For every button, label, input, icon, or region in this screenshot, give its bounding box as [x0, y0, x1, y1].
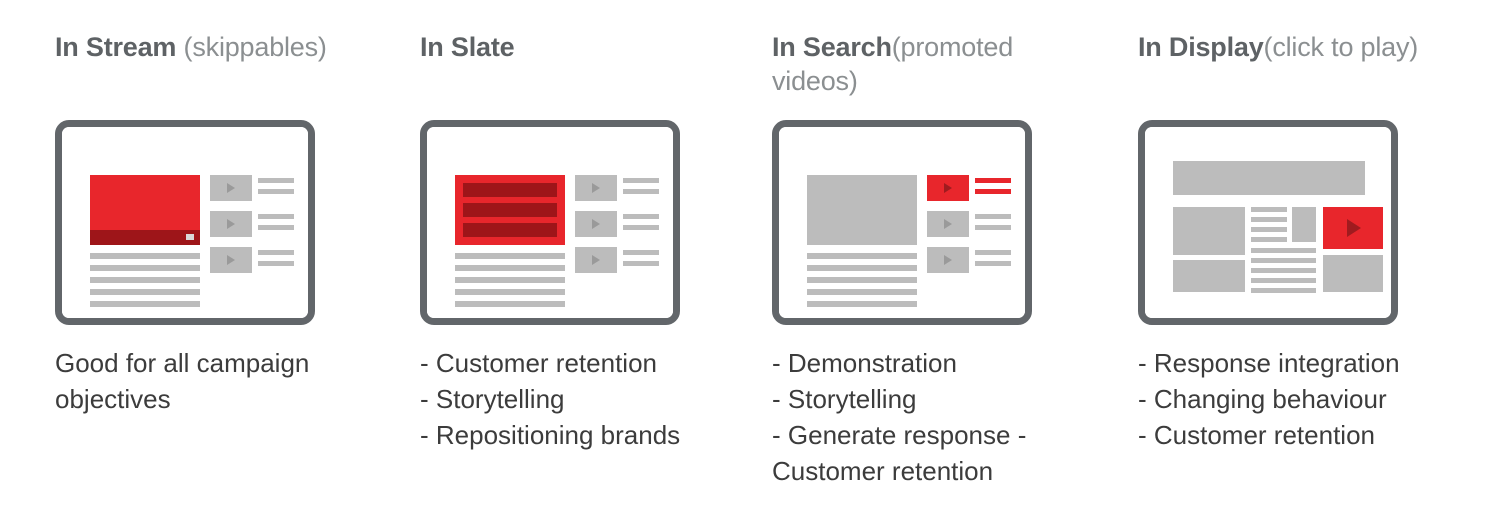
- play-icon: [227, 219, 235, 229]
- in-search-wireframe-icon: [772, 120, 1032, 325]
- slate-option-bar: [463, 223, 557, 237]
- content-block: [1173, 260, 1245, 292]
- in-stream-screen: [62, 127, 308, 318]
- search-result-thumbnail: [927, 247, 969, 273]
- format-heading-in-stream: In Stream (skippables): [55, 30, 355, 64]
- suggested-video-title-line: [258, 178, 294, 183]
- suggested-video-thumbnail: [575, 211, 617, 237]
- play-icon: [227, 255, 235, 265]
- suggested-video-title-line: [623, 214, 659, 219]
- search-result-title-line: [975, 261, 1011, 266]
- promoted-video-title-line: [975, 189, 1011, 194]
- in-slate-screen: [427, 127, 673, 318]
- content-block: [1323, 255, 1383, 292]
- play-icon: [944, 183, 952, 193]
- format-heading-bold: In Slate: [420, 32, 514, 62]
- play-icon: [592, 255, 600, 265]
- format-heading-bold: In Search: [772, 32, 892, 62]
- body-text-line: [90, 265, 200, 271]
- caption-line: - Storytelling: [772, 381, 1112, 417]
- main-content-block: [807, 175, 917, 245]
- format-heading-bold: In Display: [1138, 32, 1264, 62]
- video-progress-handle: [186, 234, 194, 240]
- caption-line: - Demonstration: [772, 345, 1112, 381]
- caption-line: objectives: [55, 381, 385, 417]
- format-heading-bold: In Stream: [55, 32, 176, 62]
- caption-line: - Customer retention: [1138, 417, 1478, 453]
- suggested-video-thumbnail: [575, 175, 617, 201]
- slate-option-bar: [463, 203, 557, 217]
- slate-option-bar: [463, 183, 557, 197]
- body-text-line: [90, 277, 200, 283]
- page-banner-block: [1173, 161, 1365, 195]
- suggested-video-title-line: [623, 189, 659, 194]
- body-text-line: [1251, 268, 1316, 273]
- suggested-video-title-line: [623, 250, 659, 255]
- format-column-in-stream: In Stream (skippables): [55, 0, 405, 523]
- body-text-line: [1251, 217, 1287, 222]
- body-text-line: [807, 253, 917, 259]
- body-text-line: [807, 289, 917, 295]
- body-text-line: [1251, 288, 1316, 293]
- suggested-video-thumbnail: [575, 247, 617, 273]
- format-heading-in-slate: In Slate: [420, 30, 720, 64]
- suggested-video-title-line: [258, 189, 294, 194]
- search-result-title-line: [975, 225, 1011, 230]
- suggested-video-title-line: [258, 225, 294, 230]
- caption-line: Customer retention: [772, 453, 1112, 489]
- body-text-line: [455, 265, 565, 271]
- video-progress-bar: [90, 230, 200, 245]
- suggested-video-title-line: [623, 178, 659, 183]
- body-text-line: [1251, 258, 1316, 263]
- play-icon: [592, 219, 600, 229]
- body-text-line: [90, 289, 200, 295]
- suggested-video-thumbnail: [210, 211, 252, 237]
- search-result-title-line: [975, 214, 1011, 219]
- format-column-in-slate: In Slate: [420, 0, 765, 523]
- format-column-in-search: In Search(promoted videos): [772, 0, 1132, 523]
- format-heading-light: (skippables): [176, 32, 326, 62]
- caption-line: - Repositioning brands: [420, 417, 750, 453]
- body-text-line: [90, 253, 200, 259]
- in-display-wireframe-icon: [1138, 120, 1398, 325]
- in-search-screen: [779, 127, 1025, 318]
- format-heading-in-display: In Display(click to play): [1138, 30, 1428, 64]
- format-caption-in-slate: - Customer retention - Storytelling - Re…: [420, 345, 750, 453]
- body-text-line: [1251, 248, 1316, 253]
- body-text-line: [90, 301, 200, 307]
- promoted-video-title-line: [975, 178, 1011, 183]
- body-text-line: [807, 265, 917, 271]
- suggested-video-title-line: [258, 250, 294, 255]
- body-text-line: [455, 289, 565, 295]
- in-slate-wireframe-icon: [420, 120, 680, 325]
- body-text-line: [807, 301, 917, 307]
- search-result-title-line: [975, 250, 1011, 255]
- caption-line: - Customer retention: [420, 345, 750, 381]
- body-text-line: [1251, 227, 1287, 232]
- body-text-line: [1251, 278, 1316, 283]
- format-column-in-display: In Display(click to play): [1138, 0, 1498, 523]
- body-text-line: [1251, 207, 1287, 212]
- caption-line: - Generate response -: [772, 417, 1112, 453]
- suggested-video-title-line: [623, 225, 659, 230]
- search-result-thumbnail: [927, 211, 969, 237]
- caption-line: - Storytelling: [420, 381, 750, 417]
- in-display-ad-block: [1323, 207, 1383, 249]
- suggested-video-title-line: [258, 214, 294, 219]
- play-icon: [592, 183, 600, 193]
- suggested-video-title-line: [623, 261, 659, 266]
- promoted-video-thumbnail: [927, 175, 969, 201]
- body-text-line: [455, 301, 565, 307]
- suggested-video-thumbnail: [210, 247, 252, 273]
- body-text-line: [455, 253, 565, 259]
- play-icon: [1347, 219, 1361, 237]
- in-stream-wireframe-icon: [55, 120, 315, 325]
- play-icon: [944, 219, 952, 229]
- caption-line: Good for all campaign: [55, 345, 385, 381]
- suggested-video-title-line: [258, 261, 294, 266]
- format-caption-in-search: - Demonstration - Storytelling - Generat…: [772, 345, 1112, 489]
- body-text-line: [1251, 237, 1287, 242]
- format-heading-in-search: In Search(promoted videos): [772, 30, 1062, 98]
- play-icon: [227, 183, 235, 193]
- format-heading-light: (click to play): [1264, 32, 1419, 62]
- body-text-line: [455, 277, 565, 283]
- play-icon: [944, 255, 952, 265]
- body-text-line: [807, 277, 917, 283]
- inline-thumbnail-block: [1292, 207, 1316, 242]
- suggested-video-thumbnail: [210, 175, 252, 201]
- caption-line: - Changing behaviour: [1138, 381, 1478, 417]
- caption-line: - Response integration: [1138, 345, 1478, 381]
- format-caption-in-display: - Response integration - Changing behavi…: [1138, 345, 1478, 453]
- content-block: [1173, 207, 1245, 255]
- youtube-ad-formats-diagram: In Stream (skippables): [0, 0, 1500, 523]
- format-caption-in-stream: Good for all campaign objectives: [55, 345, 385, 417]
- in-display-screen: [1145, 127, 1391, 318]
